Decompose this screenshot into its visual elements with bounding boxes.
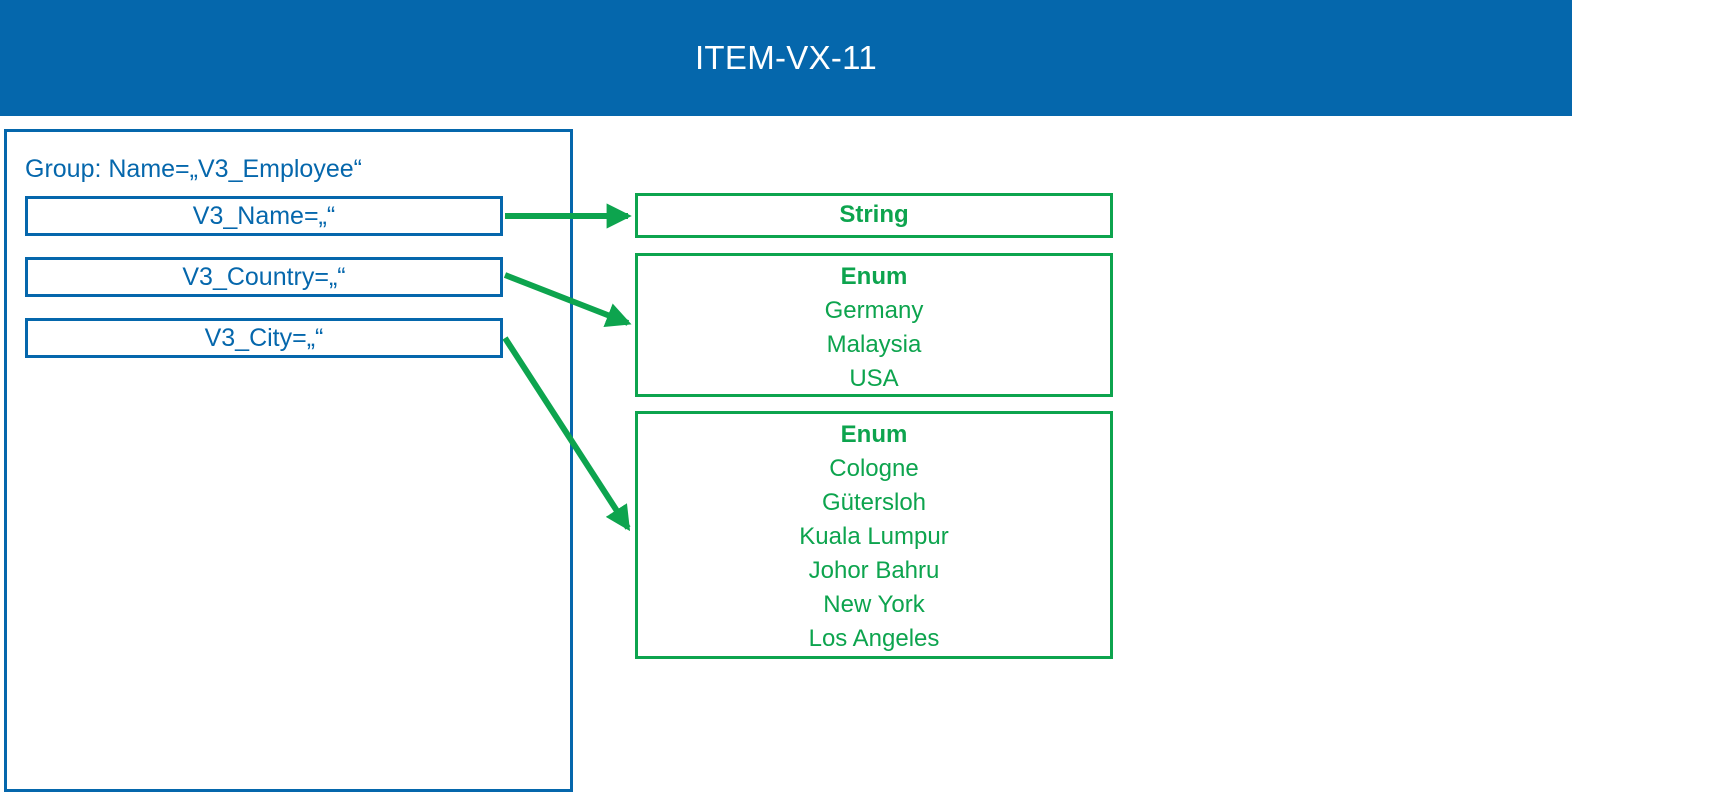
group-label: Group: Name=„V3_Employee“ (25, 155, 362, 184)
enum-value: New York (638, 588, 1110, 622)
type-box-city-enum[interactable]: Enum Cologne Gütersloh Kuala Lumpur Joho… (635, 411, 1113, 659)
type-box-country-enum[interactable]: Enum Germany Malaysia USA (635, 253, 1113, 397)
type-title: Enum (638, 260, 1110, 294)
enum-value: Malaysia (638, 328, 1110, 362)
field-label: V3_City=„“ (205, 324, 324, 353)
field-label: V3_Name=„“ (193, 202, 335, 231)
field-box-city[interactable]: V3_City=„“ (25, 318, 503, 358)
type-box-string[interactable]: String (635, 193, 1113, 238)
enum-value: Cologne (638, 452, 1110, 486)
diagram-canvas: ITEM-VX-11 Group: Name=„V3_Employee“ V3_… (0, 0, 1729, 799)
page-title: ITEM-VX-11 (0, 0, 1572, 116)
field-box-name[interactable]: V3_Name=„“ (25, 196, 503, 236)
enum-value: Gütersloh (638, 486, 1110, 520)
field-label: V3_Country=„“ (182, 263, 345, 292)
type-title: String (839, 198, 908, 232)
enum-value: USA (638, 362, 1110, 396)
enum-value: Johor Bahru (638, 554, 1110, 588)
field-box-country[interactable]: V3_Country=„“ (25, 257, 503, 297)
enum-value: Kuala Lumpur (638, 520, 1110, 554)
enum-value: Germany (638, 294, 1110, 328)
type-title: Enum (638, 418, 1110, 452)
enum-value: Los Angeles (638, 622, 1110, 656)
